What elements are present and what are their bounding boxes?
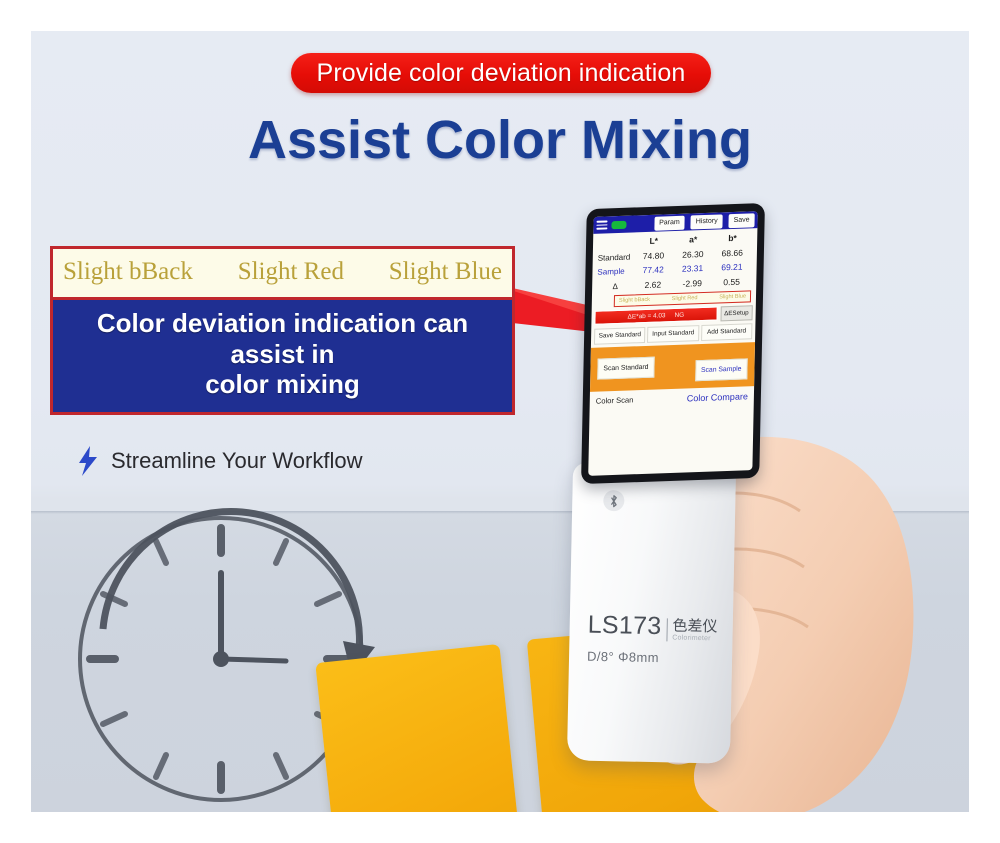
callout-message-line2: color mixing xyxy=(67,369,498,400)
input-standard-button[interactable]: Input Standard xyxy=(647,325,699,343)
standard-a-value: 26.30 xyxy=(673,248,713,259)
delta-l-value: 2.62 xyxy=(633,279,673,290)
scan-panel: Scan Standard Scan Sample xyxy=(590,342,755,392)
table-row: Δ 2.62 -2.99 0.55 xyxy=(597,276,751,291)
product-photo: Provide color deviation indication Assis… xyxy=(31,31,969,812)
battery-icon xyxy=(611,220,626,229)
measurement-table: L* a* b* Standard 74.80 26.30 68.66 Samp… xyxy=(592,228,757,291)
standard-b-value: 68.66 xyxy=(712,247,752,258)
workflow-label: Streamline Your Workflow xyxy=(111,448,363,474)
param-button[interactable]: Param xyxy=(654,215,685,230)
color-card-front xyxy=(315,644,521,812)
history-button[interactable]: History xyxy=(691,214,723,229)
lightning-bolt-icon xyxy=(77,446,99,476)
save-standard-button[interactable]: Save Standard xyxy=(594,326,646,344)
tab-color-scan[interactable]: Color Scan xyxy=(596,395,634,405)
row-label-sample: Sample xyxy=(597,266,633,276)
delta-a-value: -2.99 xyxy=(672,277,712,288)
sample-b-value: 69.21 xyxy=(712,261,752,272)
deviation-label-red: Slight Red xyxy=(238,258,344,286)
workflow-tagline: Streamline Your Workflow xyxy=(77,446,363,476)
scan-sample-button[interactable]: Scan Sample xyxy=(695,358,748,381)
add-standard-button[interactable]: Add Standard xyxy=(701,323,753,341)
screen-deviation-red: Slight Red xyxy=(672,295,698,302)
callout-box: Slight bBack Slight Red Slight Blue Colo… xyxy=(50,246,515,415)
callout-deviation-strip: Slight bBack Slight Red Slight Blue xyxy=(50,246,515,300)
device-spec: D/8° Φ8mm xyxy=(587,649,719,667)
tab-color-compare[interactable]: Color Compare xyxy=(687,391,748,403)
delta-e-verdict: NG xyxy=(674,311,684,318)
row-label-standard: Standard xyxy=(598,252,634,262)
callout-message: Color deviation indication can assist in… xyxy=(50,300,515,415)
colorimeter-device: LS173 色差仪 Colorimeter D/8° Φ8mm xyxy=(546,196,761,786)
table-header-row: L* a* b* xyxy=(598,232,752,247)
device-model: LS173 xyxy=(587,611,661,642)
column-header-a: a* xyxy=(673,234,713,245)
sample-a-value: 23.31 xyxy=(673,263,713,274)
delta-e-result: ΔE*ab = 4.03 NG xyxy=(594,306,717,324)
table-row: Sample 77.42 23.31 69.21 xyxy=(597,261,751,276)
standard-l-value: 74.80 xyxy=(634,250,674,261)
deviation-label-black: Slight bBack xyxy=(63,258,193,286)
device-name-cn: 色差仪 xyxy=(672,618,717,634)
screen-deviation-black: Slight bBack xyxy=(619,297,650,304)
device-name-en: Colorimeter xyxy=(672,634,717,642)
deviation-label-blue: Slight Blue xyxy=(389,258,502,286)
scan-standard-button[interactable]: Scan Standard xyxy=(597,357,654,380)
delta-e-value: ΔE*ab = 4.03 xyxy=(628,312,666,320)
device-branding: LS173 色差仪 Colorimeter D/8° Φ8mm xyxy=(587,611,720,667)
bluetooth-icon xyxy=(603,490,624,511)
column-header-l: L* xyxy=(634,235,674,246)
table-row: Standard 74.80 26.30 68.66 xyxy=(598,247,752,262)
hamburger-menu-icon[interactable] xyxy=(596,220,607,229)
page-title: Assist Color Mixing xyxy=(31,109,969,171)
callout-message-line1: Color deviation indication can assist in xyxy=(67,308,498,369)
delta-b-value: 0.55 xyxy=(712,276,752,287)
delta-e-bar: ΔE*ab = 4.03 NG ΔESetup xyxy=(594,305,752,326)
device-screen-bezel: Param History Save L* a* b* Standard xyxy=(581,203,765,484)
row-label-delta: Δ xyxy=(597,281,633,291)
poster-canvas: Provide color deviation indication Assis… xyxy=(0,0,1000,843)
sample-l-value: 77.42 xyxy=(633,264,673,275)
device-screen: Param History Save L* a* b* Standard xyxy=(588,211,758,476)
column-header-b: b* xyxy=(713,232,753,243)
table-corner-cell xyxy=(598,244,634,245)
delta-e-setup-button[interactable]: ΔESetup xyxy=(720,305,753,321)
save-button[interactable]: Save xyxy=(728,213,754,228)
badge-provide-color-deviation: Provide color deviation indication xyxy=(291,53,711,93)
device-body: LS173 色差仪 Colorimeter D/8° Φ8mm xyxy=(567,462,736,763)
screen-deviation-blue: Slight Blue xyxy=(719,293,746,300)
standard-buttons-row: Save Standard Input Standard Add Standar… xyxy=(594,323,752,345)
badge-label: Provide color deviation indication xyxy=(317,59,686,88)
